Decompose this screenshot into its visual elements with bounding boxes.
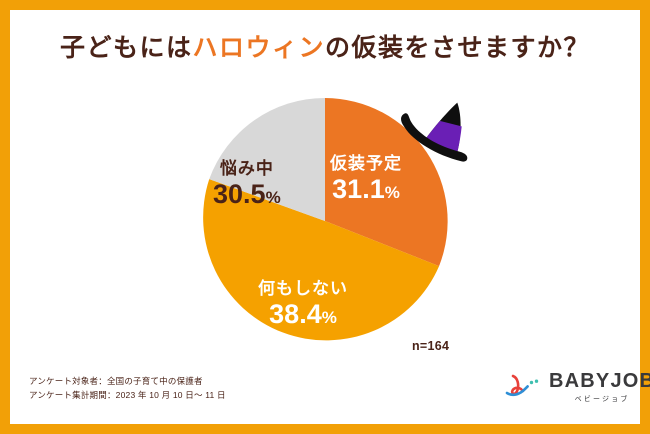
sample-size-label: n=164: [412, 339, 449, 353]
title-text-after: の仮装をさせますか？: [325, 34, 590, 62]
swoosh-dot-teal-2: [535, 380, 538, 383]
swoosh-dot-teal-1: [530, 381, 533, 384]
witch-hat-icon: [392, 96, 478, 164]
page-title: 子どもにはハロウィンの仮装をさせますか？: [0, 33, 650, 63]
brand-logo: BABYJOB ベビージョブ: [505, 371, 633, 405]
brand-logo-text: BABYJOB ベビージョブ: [549, 371, 650, 404]
frame-border-bottom: [0, 424, 650, 434]
footnotes: アンケート対象者：全国の子育て中の保護者 アンケート集計期間：2023 年 10…: [29, 374, 226, 402]
pie-label-nanimo: 何もしない 38.4%: [258, 280, 348, 328]
pie-label-nayami-number: 30.5: [213, 179, 266, 209]
footnote-period: アンケート集計期間：2023 年 10 月 10 日〜 11 日: [29, 388, 226, 402]
pie-label-nanimo-value: 38.4%: [258, 300, 348, 328]
brand-wordmark: BABYJOB: [549, 371, 650, 391]
pie-label-nanimo-name: 何もしない: [258, 280, 348, 298]
brand-subtext: ベビージョブ: [549, 394, 650, 404]
babyjob-swoosh-icon: [505, 373, 545, 399]
frame-border-right: [640, 0, 650, 434]
pie-label-kasou-value: 31.1%: [330, 175, 402, 203]
pie-label-nayami-value: 30.5%: [213, 180, 281, 208]
pie-label-nayami: 悩み中 30.5%: [213, 160, 281, 208]
pie-label-kasou-unit: %: [385, 183, 400, 202]
pie-label-nayami-name: 悩み中: [213, 160, 281, 178]
infographic-poster: 子どもにはハロウィンの仮装をさせますか？ 仮装予定 31.1% 何もしない 38…: [0, 0, 650, 434]
frame-border-left: [0, 0, 10, 434]
title-text-highlight: ハロウィン: [192, 34, 325, 62]
pie-label-kasou-number: 31.1: [332, 174, 385, 204]
frame-border-top: [0, 0, 650, 10]
pie-label-nanimo-unit: %: [322, 308, 337, 327]
pie-label-nayami-unit: %: [266, 188, 281, 207]
footnote-target: アンケート対象者：全国の子育て中の保護者: [29, 374, 226, 388]
pie-label-nanimo-number: 38.4: [269, 299, 322, 329]
title-text-before: 子どもには: [60, 34, 193, 62]
